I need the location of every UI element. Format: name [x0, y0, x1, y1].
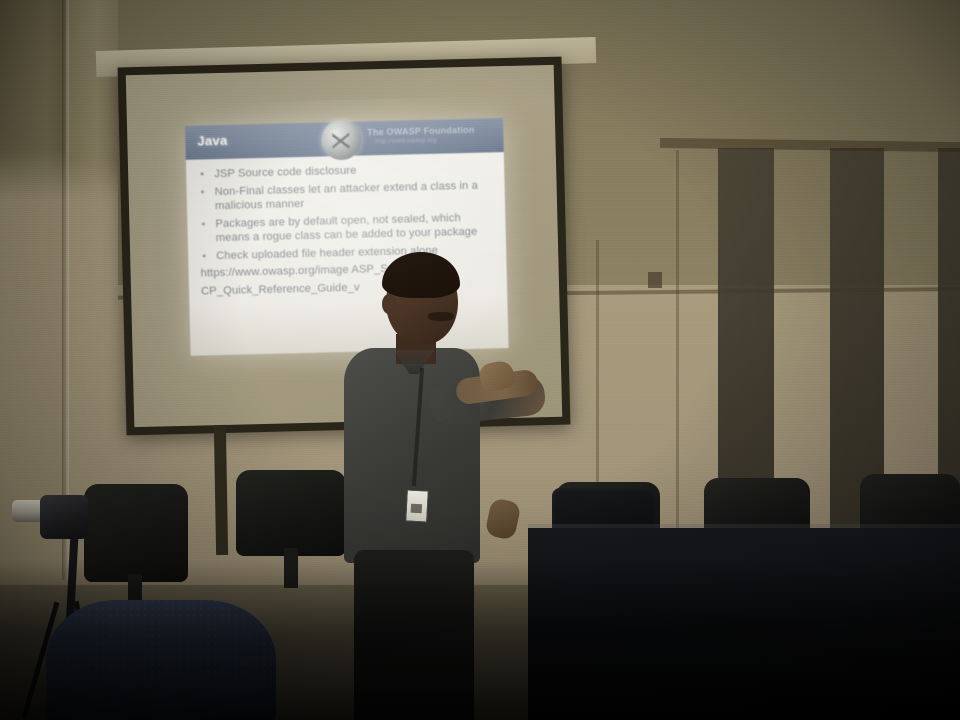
presenter: [330, 250, 560, 720]
chair-foreground-blue: [46, 600, 276, 720]
presentation-photo-scene: Java The OWASP Foundation http://www.owa…: [0, 0, 960, 720]
conference-table: [528, 528, 960, 720]
slide-bullet: • Non-Final classes let an attacker exte…: [196, 178, 495, 214]
slide-title: Java: [197, 133, 227, 149]
video-camera: [40, 495, 88, 539]
presenter-legs: [354, 550, 474, 720]
presenter-mustache: [428, 312, 454, 321]
presenter-hand-lower: [484, 497, 521, 540]
chair-foreground-dark: [84, 484, 188, 582]
chair-post: [284, 548, 298, 588]
bullet-marker-icon: •: [197, 217, 215, 232]
wall-switch-icon: [648, 272, 662, 288]
slide-bullet-label: Packages are by default open, not sealed…: [215, 210, 496, 246]
owasp-tagline: http://www.owasp.org: [375, 138, 436, 145]
projection-screen-stand: [214, 425, 228, 555]
owasp-wordmark: The OWASP Foundation: [367, 125, 475, 138]
bullet-marker-icon: •: [198, 249, 216, 264]
bullet-marker-icon: •: [196, 167, 214, 182]
presenter-ear: [382, 294, 396, 314]
wall-seam-1: [676, 150, 679, 570]
owasp-logo: [321, 120, 362, 161]
pillar-edge: [62, 0, 69, 580]
presenter-hair: [382, 252, 460, 298]
slide-bullet-label: Non-Final classes let an attacker extend…: [214, 178, 495, 214]
slide-bullet: • Packages are by default open, not seal…: [197, 210, 496, 246]
presenter-id-badge: [405, 489, 429, 522]
bullet-marker-icon: •: [196, 185, 214, 200]
